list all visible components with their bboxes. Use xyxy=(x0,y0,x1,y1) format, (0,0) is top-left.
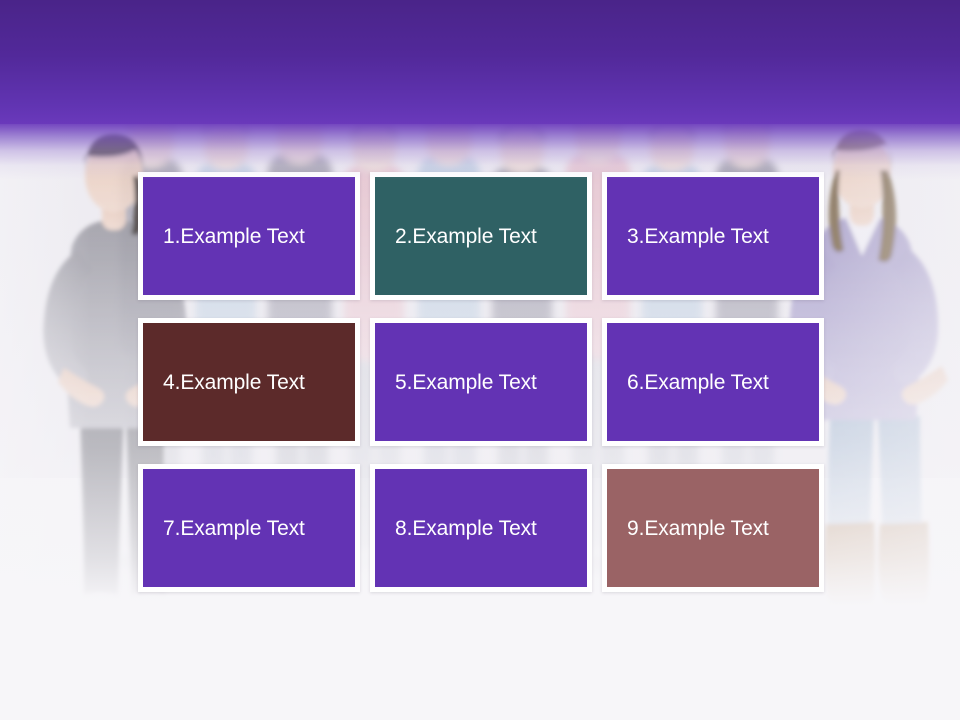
text-block-4[interactable]: 4.Example Text xyxy=(138,318,360,446)
text-block-3[interactable]: 3.Example Text xyxy=(602,172,824,300)
text-block-1[interactable]: 1.Example Text xyxy=(138,172,360,300)
text-block-2-label: 2.Example Text xyxy=(395,225,537,249)
text-block-1-label: 1.Example Text xyxy=(163,225,305,249)
text-block-9-label: 9.Example Text xyxy=(627,517,769,541)
text-block-grid: 1.Example Text 2.Example Text 3.Example … xyxy=(138,172,838,592)
text-block-4-label: 4.Example Text xyxy=(163,371,305,395)
text-block-8[interactable]: 8.Example Text xyxy=(370,464,592,592)
slide-canvas: Text Blocks – Your Title Text Here 1.Exa… xyxy=(0,0,960,720)
text-block-2[interactable]: 2.Example Text xyxy=(370,172,592,300)
text-block-7[interactable]: 7.Example Text xyxy=(138,464,360,592)
title-bar xyxy=(0,0,960,124)
text-block-5-label: 5.Example Text xyxy=(395,371,537,395)
text-block-6[interactable]: 6.Example Text xyxy=(602,318,824,446)
text-block-6-label: 6.Example Text xyxy=(627,371,769,395)
text-block-3-label: 3.Example Text xyxy=(627,225,769,249)
text-block-7-label: 7.Example Text xyxy=(163,517,305,541)
text-block-8-label: 8.Example Text xyxy=(395,517,537,541)
text-block-5[interactable]: 5.Example Text xyxy=(370,318,592,446)
text-block-9[interactable]: 9.Example Text xyxy=(602,464,824,592)
